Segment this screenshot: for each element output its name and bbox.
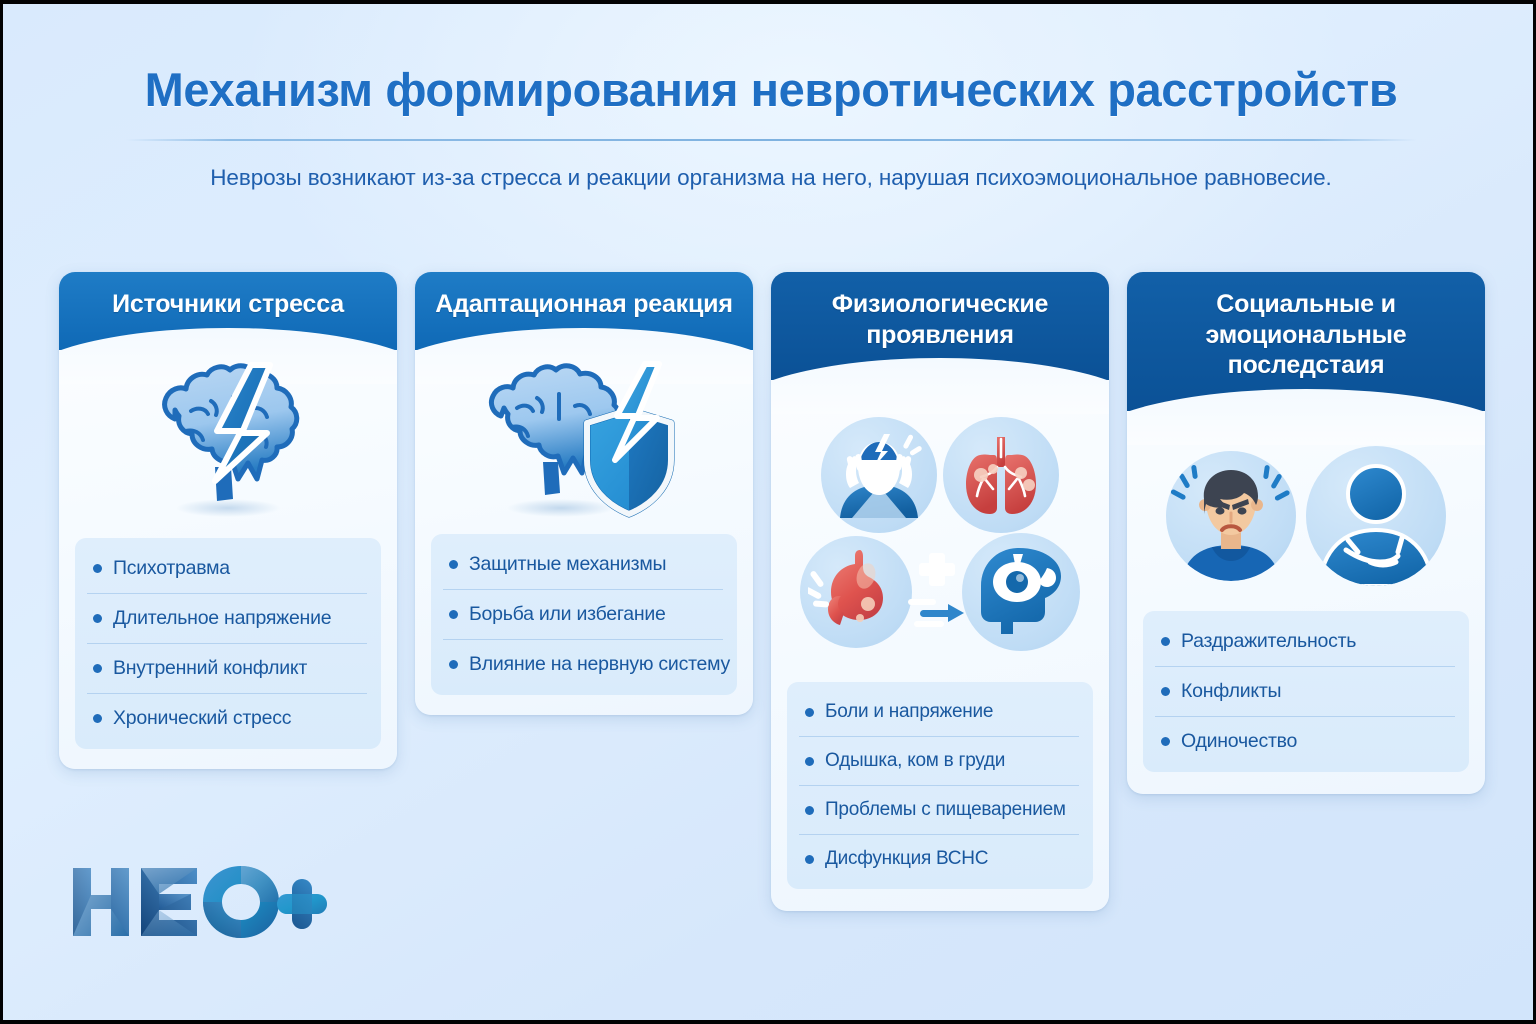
card-adaptive-reaction: Адаптационная реакция <box>415 272 753 715</box>
list-item[interactable]: Одышка, ком в груди <box>799 737 1079 786</box>
head-profile-eye-icon <box>962 533 1080 651</box>
page-subtitle: Неврозы возникают из-за стресса и реакци… <box>3 165 1536 191</box>
list-item[interactable]: Длительное напряжение <box>87 594 367 644</box>
bullet-icon <box>449 610 458 619</box>
logo-plus-icon <box>277 879 327 929</box>
bullet-icon <box>93 664 102 673</box>
card-rail: Источники стресса <box>59 272 1487 952</box>
card-physiological-manifestations: Физиологические проявления <box>771 272 1109 911</box>
list-item[interactable]: Проблемы с пищеварением <box>799 786 1079 835</box>
lungs-icon <box>943 417 1059 533</box>
header-divider <box>126 139 1416 141</box>
list-item-label: Длительное напряжение <box>113 607 331 630</box>
logo-letter-o <box>203 866 279 938</box>
list-item-label: Борьба или избегание <box>469 603 666 626</box>
list-item[interactable]: Внутренний конфликт <box>87 644 367 694</box>
lonely-person-icon <box>1306 446 1446 586</box>
logo-letter-n <box>73 868 129 936</box>
list-item[interactable]: Боли и напряжение <box>799 688 1079 737</box>
bullet-icon <box>805 757 814 766</box>
list-item-label: Внутренний конфликт <box>113 657 307 680</box>
card-title-physiological-manifestations: Физиологические проявления <box>771 272 1109 380</box>
list-item-label: Хронический стресс <box>113 707 291 730</box>
bullet-icon <box>1161 737 1170 746</box>
list-item[interactable]: Защитные механизмы <box>443 540 723 590</box>
bullet-icon <box>93 564 102 573</box>
transfer-arrows-group <box>904 549 970 635</box>
list-physiological-manifestations: Боли и напряжение Одышка, ком в груди Пр… <box>787 682 1093 889</box>
list-sources-of-stress: Психотравма Длительное напряжение Внутре… <box>75 538 381 749</box>
stomach-icon <box>800 536 912 648</box>
list-social-emotional-consequences: Раздражительность Конфликты Одиночество <box>1143 611 1469 772</box>
list-item-label: Проблемы с пищеварением <box>825 799 1066 821</box>
card-social-emotional-consequences: Социальные и эмоциональные последстаия <box>1127 272 1485 794</box>
list-item-label: Влияние на нервную систему <box>469 653 730 676</box>
list-item-label: Боли и напряжение <box>825 701 993 723</box>
list-item[interactable]: Дисфункция ВСНС <box>799 835 1079 883</box>
list-item[interactable]: Борьба или избегание <box>443 590 723 640</box>
logo-letter-e <box>141 868 197 936</box>
bullet-icon <box>805 708 814 717</box>
card-sources-of-stress: Источники стресса <box>59 272 397 769</box>
brand-logo <box>69 862 329 946</box>
list-item[interactable]: Влияние на нервную систему <box>443 640 723 689</box>
bullet-icon <box>805 855 814 864</box>
page-title: Механизм формирования невротических расс… <box>3 62 1536 117</box>
list-item-label: Раздражительность <box>1181 630 1356 653</box>
headache-person-icon <box>821 417 937 533</box>
bullet-icon <box>449 560 458 569</box>
bullet-icon <box>1161 687 1170 696</box>
bullet-icon <box>93 614 102 623</box>
list-item[interactable]: Конфликты <box>1155 667 1455 717</box>
list-adaptive-reaction: Защитные механизмы Борьба или избегание … <box>431 534 737 695</box>
list-item-label: Одиночество <box>1181 730 1297 753</box>
bullet-icon <box>805 806 814 815</box>
brain-lightning-icon <box>59 356 397 528</box>
angry-face-icon <box>1166 451 1296 581</box>
list-item-label: Психотравма <box>113 557 230 580</box>
list-item-label: Дисфункция ВСНС <box>825 848 988 870</box>
list-item-label: Защитные механизмы <box>469 553 666 576</box>
brain-shield-lightning-icon <box>415 356 753 528</box>
card-title-sources-of-stress: Источники стресса <box>59 272 397 350</box>
social-icon-group <box>1127 435 1485 597</box>
list-item-label: Одышка, ком в груди <box>825 750 1005 772</box>
list-item[interactable]: Хронический стресс <box>87 694 367 743</box>
bullet-icon <box>449 660 458 669</box>
plus-icon <box>912 549 962 589</box>
list-item-label: Конфликты <box>1181 680 1281 703</box>
card-title-social-emotional-consequences: Социальные и эмоциональные последстаия <box>1127 272 1485 411</box>
list-item[interactable]: Раздражительность <box>1155 617 1455 667</box>
arrow-right-icon <box>906 591 968 635</box>
list-item[interactable]: Одиночество <box>1155 717 1455 766</box>
card-title-adaptive-reaction: Адаптационная реакция <box>415 272 753 350</box>
header: Механизм формирования невротических расс… <box>3 4 1536 191</box>
bullet-icon <box>1161 637 1170 646</box>
bullet-icon <box>93 714 102 723</box>
list-item[interactable]: Психотравма <box>87 544 367 594</box>
infographic-canvas: Механизм формирования невротических расс… <box>0 0 1536 1024</box>
physiological-icon-grid <box>771 390 1109 678</box>
